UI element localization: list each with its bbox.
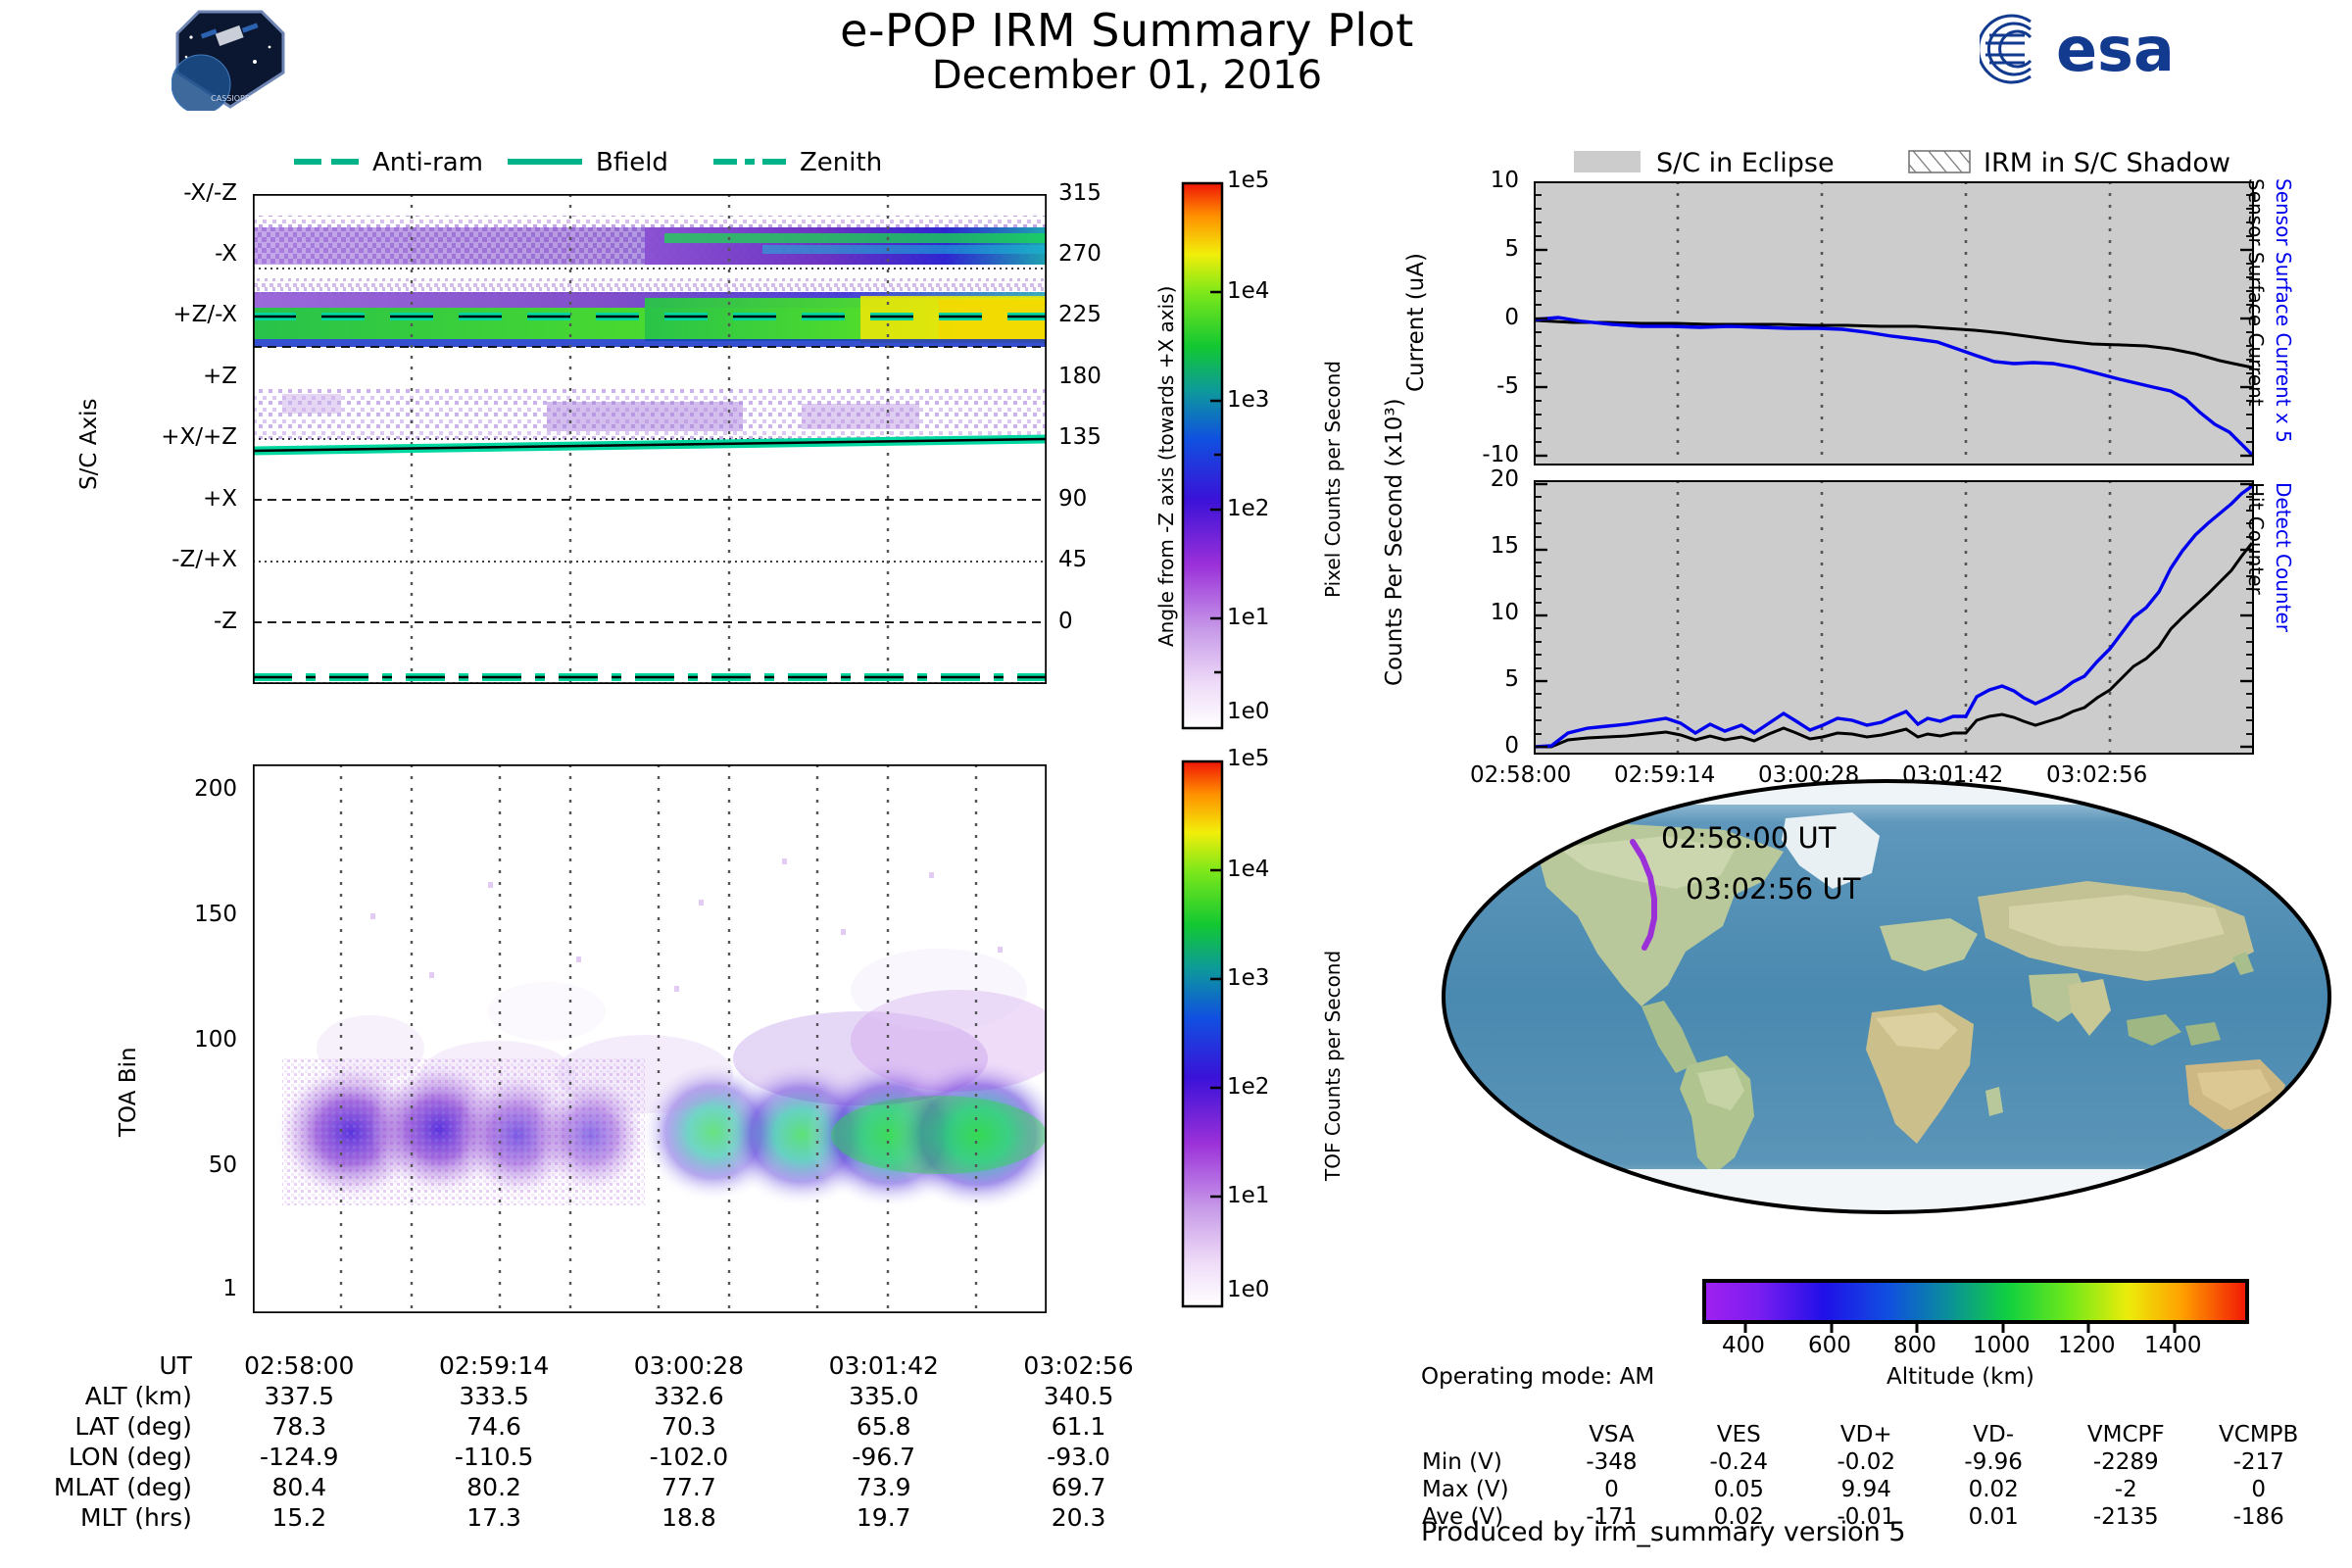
table-row: LAT (deg) 78.3 74.6 70.3 65.8 61.1 (20, 1411, 1176, 1442)
toa-tick-2: 100 (194, 1027, 237, 1053)
cell: -124.9 (202, 1442, 397, 1472)
toa-tick-1: 150 (194, 902, 237, 927)
panel-current-right-label-black: Sensor Surface Current (2244, 178, 2268, 407)
row-label: UT (20, 1350, 202, 1381)
colorbar-altitude (1702, 1279, 2249, 1324)
panel-counts-right-label-black: Hit Counter (2244, 482, 2268, 595)
panel-current[interactable] (1534, 181, 2254, 465)
colorbar-tof-label: TOF Counts per Second (1321, 951, 1345, 1181)
cell: -348 (1548, 1448, 1676, 1476)
colorbar-altitude-label: Altitude (km) (1886, 1364, 2034, 1390)
svg-text:CASSIOPE: CASSIOPE (211, 94, 250, 103)
table-row: ALT (km) 337.5 333.5 332.6 335.0 340.5 (20, 1381, 1176, 1411)
cb1-tick-5: 1e0 (1227, 699, 1269, 724)
cb2-tick-1: 1e4 (1227, 857, 1269, 882)
cb2-tick-2: 1e3 (1227, 965, 1269, 991)
ytick-right-2: 225 (1058, 302, 1102, 327)
operating-mode: Operating mode: AM (1421, 1364, 1654, 1390)
cnt-tick-2: 10 (1491, 600, 1519, 625)
cell: 0.05 (1675, 1476, 1802, 1503)
legend-label-bfield: Bfield (596, 148, 668, 177)
ytick-left-1: -X (215, 241, 237, 267)
cell: -96.7 (786, 1442, 981, 1472)
ytick-left-6: -Z/+X (171, 547, 237, 572)
cell: -102.0 (592, 1442, 787, 1472)
cell: 03:01:42 (786, 1350, 981, 1381)
panel-angle[interactable] (253, 194, 1047, 684)
ytick-right-7: 0 (1058, 609, 1073, 634)
cell: 332.6 (592, 1381, 787, 1411)
toa-tick-3: 50 (209, 1152, 237, 1178)
cb1-tick-3: 1e2 (1227, 496, 1269, 521)
col-header: VSA (1548, 1421, 1676, 1448)
cell: 80.2 (397, 1472, 592, 1502)
panel-current-yticks: 10 5 0 -5 -10 (1421, 181, 1529, 465)
ephemeris-table: UT 02:58:00 02:59:14 03:00:28 03:01:42 0… (20, 1350, 1176, 1546)
row-label: MLAT (deg) (20, 1472, 202, 1502)
panel-toa-ylabel: TOA Bin (116, 1047, 141, 1137)
cell: 0 (1548, 1476, 1676, 1503)
ytick-right-0: 315 (1058, 180, 1102, 206)
row-label: Max (V) (1421, 1476, 1548, 1503)
panel-angle-ylabel-left: S/C Axis (76, 399, 102, 490)
ytick-left-7: -Z (214, 609, 237, 634)
ytick-right-5: 90 (1058, 486, 1087, 512)
cell: 0.02 (1930, 1476, 2057, 1503)
legend-label-shadow: IRM in S/C Shadow (1984, 148, 2230, 178)
cell: 70.3 (592, 1411, 787, 1442)
page-date: December 01, 2016 (686, 53, 1568, 98)
colorbar-tof-ticklabels: 1e5 1e4 1e3 1e2 1e1 1e0 (1227, 759, 1315, 1308)
cell: 333.5 (397, 1381, 592, 1411)
cell: 19.7 (786, 1502, 981, 1533)
cb2-tick-4: 1e1 (1227, 1183, 1269, 1208)
cnt-tick-3: 5 (1504, 666, 1519, 692)
cell: -2 (2057, 1476, 2194, 1503)
panel-counts[interactable] (1534, 480, 2254, 755)
eclipse-swatch (1574, 151, 1641, 172)
cur-tick-4: -10 (1482, 442, 1519, 467)
footer-credit: Produced by irm_summary version 5 (1421, 1517, 1906, 1547)
cur-tick-0: 10 (1491, 168, 1519, 193)
legend-left: Anti-ram Bfield Zenith (284, 145, 911, 180)
legend-label-eclipse: S/C in Eclipse (1656, 148, 1835, 178)
ytick-left-4: +X/+Z (161, 424, 237, 450)
col-header: VD- (1930, 1421, 2057, 1448)
alt-tick-1: 600 (1808, 1333, 1851, 1358)
cell: 03:02:56 (981, 1350, 1176, 1381)
table-row: Min (V) -348 -0.24 -0.02 -9.96 -2289 -21… (1421, 1448, 2323, 1476)
ytick-right-3: 180 (1058, 364, 1102, 389)
ytick-left-3: +Z (203, 364, 237, 389)
table-row: MLAT (deg) 80.4 80.2 77.7 73.9 69.7 (20, 1472, 1176, 1502)
ground-track-map[interactable]: 02:58:00 UT 03:02:56 UT (1441, 779, 2332, 1215)
cb1-tick-2: 1e3 (1227, 387, 1269, 413)
ytick-right-4: 135 (1058, 424, 1102, 450)
panel-counts-right-label-blue: Detect Counter (2272, 482, 2295, 632)
cell: 03:00:28 (592, 1350, 787, 1381)
table-row: UT 02:58:00 02:59:14 03:00:28 03:01:42 0… (20, 1350, 1176, 1381)
legend-right: S/C in Eclipse IRM in S/C Shadow (1568, 143, 2274, 182)
table-row: MLT (hrs) 15.2 17.3 18.8 19.7 20.3 (20, 1502, 1176, 1533)
cb2-tick-3: 1e2 (1227, 1074, 1269, 1100)
alt-tick-2: 800 (1893, 1333, 1936, 1358)
cell: -110.5 (397, 1442, 592, 1472)
cell: 61.1 (981, 1411, 1176, 1442)
row-label: LAT (deg) (20, 1411, 202, 1442)
toa-tick-0: 200 (194, 776, 237, 802)
colorbar-tof-counts (1181, 759, 1224, 1308)
toa-tick-4: 1 (222, 1276, 237, 1301)
panel-angle-svg (253, 194, 1047, 684)
row-label: Min (V) (1421, 1448, 1548, 1476)
panel-toa[interactable] (253, 764, 1047, 1313)
cell: 17.3 (397, 1502, 592, 1533)
cb1-tick-1: 1e4 (1227, 278, 1269, 304)
cur-tick-2: 0 (1504, 305, 1519, 330)
cell: 337.5 (202, 1381, 397, 1411)
alt-tick-3: 1000 (1973, 1333, 2031, 1358)
cell: 02:59:14 (397, 1350, 592, 1381)
ytick-right-6: 45 (1058, 547, 1087, 572)
ephemeris-body: UT 02:58:00 02:59:14 03:00:28 03:01:42 0… (20, 1350, 1176, 1533)
cell: 9.94 (1802, 1476, 1930, 1503)
cell: 65.8 (786, 1411, 981, 1442)
row-label: ALT (km) (20, 1381, 202, 1411)
col-header: VMCPF (2057, 1421, 2194, 1448)
esa-logo: esa (1980, 10, 2323, 88)
cell: -2289 (2057, 1448, 2194, 1476)
cb1-tick-0: 1e5 (1227, 168, 1269, 193)
cell: -93.0 (981, 1442, 1176, 1472)
panel-angle-ylabel-right: Angle from -Z axis (towards +X axis) (1154, 286, 1178, 647)
cell: -186 (2194, 1503, 2323, 1531)
col-header: VD+ (1802, 1421, 1930, 1448)
alt-tick-0: 400 (1722, 1333, 1765, 1358)
cell: 18.8 (592, 1502, 787, 1533)
colorbar-pixel-label: Pixel Counts per Second (1321, 361, 1345, 598)
cell: 78.3 (202, 1411, 397, 1442)
cell: -0.24 (1675, 1448, 1802, 1476)
shadow-swatch (1909, 151, 1970, 172)
cell: 73.9 (786, 1472, 981, 1502)
panel-counts-yticks: 20 15 10 5 0 (1421, 480, 1529, 755)
cell: -217 (2194, 1448, 2323, 1476)
cell: -0.02 (1802, 1448, 1930, 1476)
cur-tick-3: -5 (1496, 373, 1519, 399)
cb1-tick-4: 1e1 (1227, 605, 1269, 630)
table-header-row: VSA VES VD+ VD- VMCPF VCMPB (1421, 1421, 2323, 1448)
cb2-tick-0: 1e5 (1227, 746, 1269, 771)
cell: 0.01 (1930, 1503, 2057, 1531)
cell: 80.4 (202, 1472, 397, 1502)
ytick-right-1: 270 (1058, 241, 1102, 267)
panel-toa-yticks: 200 150 100 50 1 (147, 764, 245, 1313)
legend-label-antiram: Anti-ram (372, 148, 483, 177)
mission-patch: CASSIOPE (171, 8, 289, 111)
page-title: e-POP IRM Summary Plot (686, 4, 1568, 57)
panel-counts-ylabel: Counts Per Second (x10³) (1382, 431, 1407, 686)
cell: 340.5 (981, 1381, 1176, 1411)
table-row: LON (deg) -124.9 -110.5 -102.0 -96.7 -93… (20, 1442, 1176, 1472)
cell: 74.6 (397, 1411, 592, 1442)
cell: 02:58:00 (202, 1350, 397, 1381)
row-label: MLT (hrs) (20, 1502, 202, 1533)
cnt-tick-4: 0 (1504, 733, 1519, 759)
cell: 0 (2194, 1476, 2323, 1503)
colorbar-altitude-ticks: 400 600 800 1000 1200 1400 (1702, 1323, 2249, 1360)
table-row: Max (V) 0 0.05 9.94 0.02 -2 0 (1421, 1476, 2323, 1503)
cell: 15.2 (202, 1502, 397, 1533)
colorbar-pixel-ticklabels: 1e5 1e4 1e3 1e2 1e1 1e0 (1227, 181, 1315, 730)
svg-text:esa: esa (2056, 14, 2175, 85)
row-label: LON (deg) (20, 1442, 202, 1472)
cnt-tick-0: 20 (1491, 466, 1519, 492)
cell: 69.7 (981, 1472, 1176, 1502)
panel-counts-ylabel-text: Counts Per Second (x10³) (1382, 398, 1407, 686)
cell: 77.7 (592, 1472, 787, 1502)
panel-angle-yticks-right: 315 270 225 180 135 90 45 0 (1058, 194, 1147, 684)
cur-tick-1: 5 (1504, 236, 1519, 262)
ytick-left-2: +Z/-X (172, 302, 237, 327)
col-header: VES (1675, 1421, 1802, 1448)
panel-current-right-label-blue: Sensor Surface Current x 5 (2272, 178, 2295, 443)
ytick-left-5: +X (203, 486, 237, 512)
legend-label-zenith: Zenith (800, 148, 882, 177)
cell: 20.3 (981, 1502, 1176, 1533)
colorbar-pixel-counts (1181, 181, 1224, 730)
cnt-tick-1: 15 (1491, 533, 1519, 559)
cell: 335.0 (786, 1381, 981, 1411)
ytick-left-0: -X/-Z (183, 180, 237, 206)
col-header: VCMPB (2194, 1421, 2323, 1448)
alt-tick-5: 1400 (2144, 1333, 2202, 1358)
cell: -9.96 (1930, 1448, 2057, 1476)
alt-tick-4: 1200 (2058, 1333, 2116, 1358)
cb2-tick-5: 1e0 (1227, 1277, 1269, 1302)
cell: -2135 (2057, 1503, 2194, 1531)
panel-angle-yticks-left: -X/-Z -X +Z/-X +Z +X/+Z +X -Z/+X -Z (108, 194, 245, 684)
